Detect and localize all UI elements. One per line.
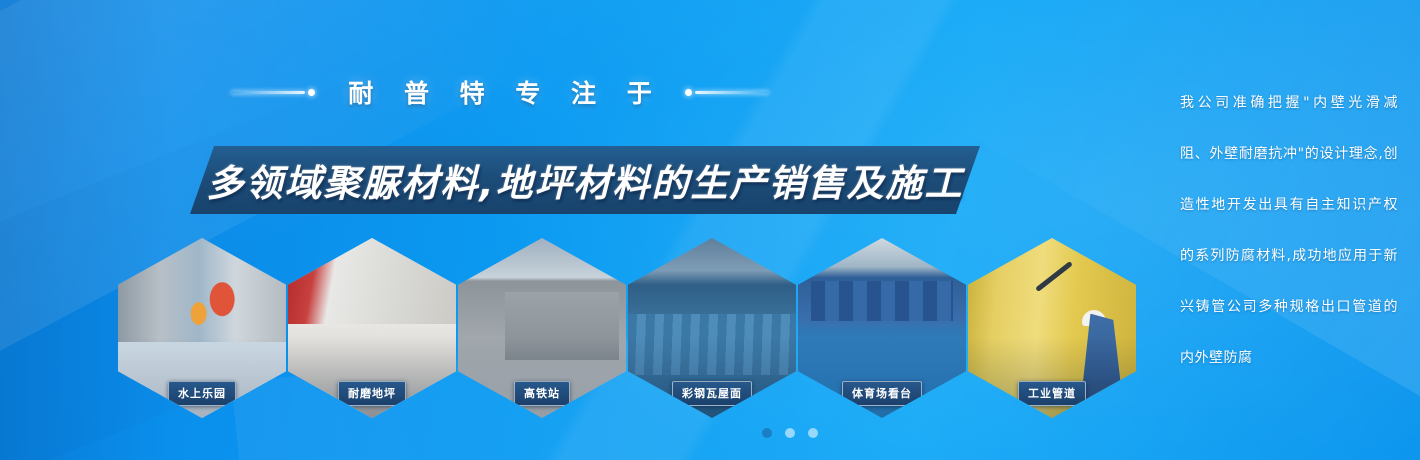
company-description: 我公司准确把握"内壁光滑减 阻、外壁耐磨抗冲"的设计理念,创 造性地开发出具有自…: [1180, 78, 1398, 384]
carousel-dot[interactable]: [762, 428, 772, 438]
description-line: 内外壁防腐: [1180, 333, 1398, 384]
carousel-dot[interactable]: [785, 428, 795, 438]
tagline-rule-right: [685, 89, 769, 96]
project-card-label: 工业管道: [1018, 381, 1086, 406]
headline-text: 多领域聚脲材料,地坪材料的生产销售及施工: [190, 146, 980, 214]
project-card[interactable]: 彩钢瓦屋面: [628, 238, 796, 418]
promo-banner: 耐 普 特 专 注 于 多领域聚脲材料,地坪材料的生产销售及施工 水上乐园 耐磨…: [0, 0, 1420, 460]
project-card[interactable]: 高铁站: [458, 238, 626, 418]
project-card-list: 水上乐园 耐磨地坪 高铁站 彩钢瓦屋面 体育场看台: [118, 238, 1138, 418]
project-card-label: 彩钢瓦屋面: [672, 381, 752, 406]
description-line: 兴铸管公司多种规格出口管道的: [1180, 282, 1398, 333]
project-card-label: 水上乐园: [168, 381, 236, 406]
description-line: 阻、外壁耐磨抗冲"的设计理念,创: [1180, 129, 1398, 180]
project-card-label: 耐磨地坪: [338, 381, 406, 406]
description-line: 我公司准确把握"内壁光滑减: [1180, 78, 1398, 129]
project-card[interactable]: 工业管道: [968, 238, 1136, 418]
project-card-label: 高铁站: [514, 381, 570, 406]
tagline-text: 耐 普 特 专 注 于: [337, 74, 663, 110]
tagline-row: 耐 普 特 专 注 于: [0, 74, 1000, 110]
project-card[interactable]: 水上乐园: [118, 238, 286, 418]
tagline-rule-left: [231, 89, 315, 96]
description-line: 的系列防腐材料,成功地应用于新: [1180, 231, 1398, 282]
project-card-label: 体育场看台: [842, 381, 922, 406]
project-card[interactable]: 耐磨地坪: [288, 238, 456, 418]
project-card[interactable]: 体育场看台: [798, 238, 966, 418]
description-line: 造性地开发出具有自主知识产权: [1180, 180, 1398, 231]
carousel-dot[interactable]: [808, 428, 818, 438]
carousel-dots: [0, 428, 1420, 438]
